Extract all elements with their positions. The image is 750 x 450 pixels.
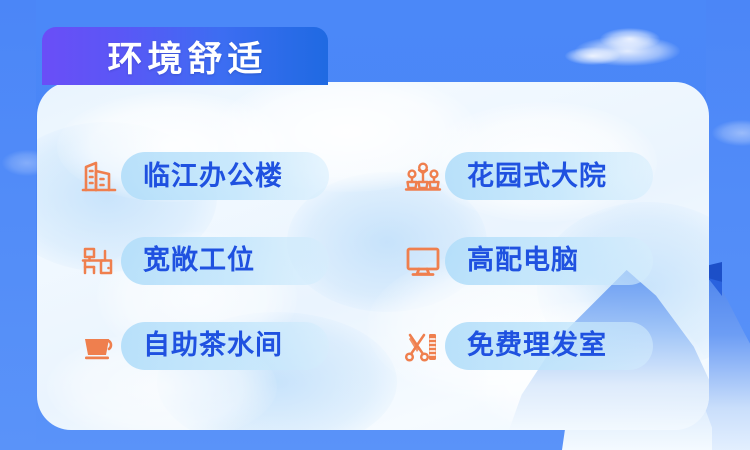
feature-label: 免费理发室: [467, 332, 607, 359]
feature-label: 高配电脑: [467, 247, 579, 274]
tea-cup-icon: [77, 324, 121, 368]
feature-label: 花园式大院: [467, 163, 607, 190]
sky-left-strip: [0, 0, 36, 450]
computer-monitor-icon: [401, 239, 445, 283]
desk-workstation-icon: [77, 239, 121, 283]
feature-item-desk-workstation[interactable]: 宽敞工位: [49, 235, 373, 287]
feature-item-tea-room[interactable]: 自助茶水间: [49, 320, 373, 372]
feature-label: 临江办公楼: [143, 163, 283, 190]
banner-title: 环境舒适: [102, 31, 267, 82]
scissors-comb-icon: [401, 324, 445, 368]
feature-grid: 临江办公楼 花园式大院: [37, 82, 709, 430]
feature-item-office-building[interactable]: 临江办公楼: [49, 150, 373, 202]
sky-right-strip: [706, 0, 750, 450]
promo-card-stage: 环境舒适 临江办公楼: [0, 0, 750, 450]
garden-courtyard-icon: [401, 154, 445, 198]
feature-label: 宽敞工位: [143, 247, 255, 274]
feature-item-computer-monitor[interactable]: 高配电脑: [373, 235, 697, 287]
feature-item-garden-courtyard[interactable]: 花园式大院: [373, 150, 697, 202]
office-building-icon: [77, 154, 121, 198]
feature-label: 自助茶水间: [143, 332, 283, 359]
title-banner: 环境舒适: [42, 27, 328, 85]
feature-item-barber-room[interactable]: 免费理发室: [373, 320, 697, 372]
